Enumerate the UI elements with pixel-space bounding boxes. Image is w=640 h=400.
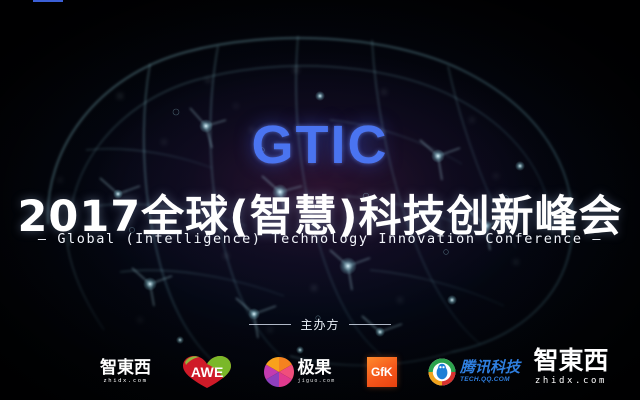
organizer-heading: 主办方 <box>0 316 640 333</box>
rule-right <box>349 324 391 325</box>
watermark-name: 智東西 <box>533 348 608 373</box>
sponsor-gfk-name: GfK <box>371 365 392 379</box>
top-progress-sliver <box>33 0 63 2</box>
sponsor-logo-tencent[interactable]: 腾讯科技 TECH.QQ.COM <box>428 352 520 392</box>
tencent-penguin-icon <box>428 358 456 386</box>
sponsor-logo-zhidx[interactable]: 智東西 zhidx.com <box>100 352 151 392</box>
page-subtitle: — Global (Intelligence) Technology Innov… <box>0 231 640 247</box>
sponsor-jiguo-url: jiguo.com <box>298 379 336 384</box>
sponsor-awe-name: AWE <box>182 364 232 380</box>
sponsor-logo-awe[interactable]: AWE <box>182 352 232 392</box>
sponsor-zhidx-name: 智東西 <box>100 360 151 377</box>
sponsor-logo-jiguo[interactable]: 极果 jiguo.com <box>264 352 336 392</box>
sponsor-zhidx-url: zhidx.com <box>103 379 147 385</box>
sponsor-logo-gfk[interactable]: GfK <box>367 352 397 392</box>
conference-poster: GTIC 2017全球(智慧)科技创新峰会 — Global (Intellig… <box>0 0 640 400</box>
brand-logotype: GTIC <box>0 114 640 176</box>
sponsor-jiguo-name: 极果 <box>298 360 336 377</box>
watermark-zhidx: 智東西 zhidx.com <box>510 348 632 386</box>
jiguo-pinwheel-icon <box>264 357 294 387</box>
watermark-url: zhidx.com <box>535 377 607 386</box>
organizer-label: 主办方 <box>300 316 339 333</box>
rule-left <box>249 324 291 325</box>
sponsor-logo-row: 智東西 zhidx.com AWE <box>100 351 520 393</box>
